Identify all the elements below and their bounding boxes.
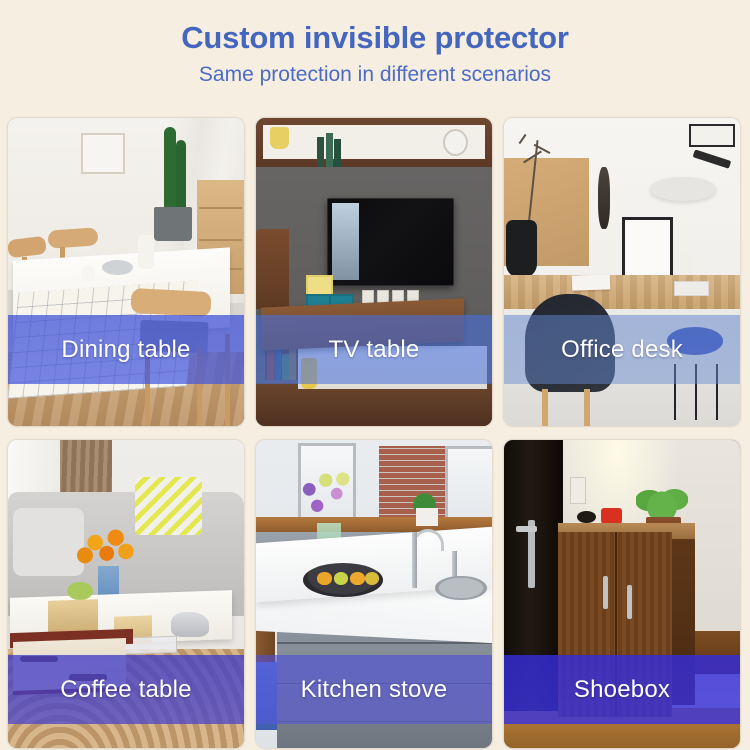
panel-caption-band: Shoebox <box>504 655 740 724</box>
scenario-panel-kitchen-stove[interactable]: Kitchen stove <box>256 440 492 748</box>
page-title: Custom invisible protector <box>0 20 750 56</box>
scenario-panel-dining-table[interactable]: Dining table <box>8 118 244 426</box>
panel-caption-text: Office desk <box>561 336 683 364</box>
panel-caption-band: TV table <box>256 315 492 384</box>
panel-caption-text: Dining table <box>61 336 190 364</box>
panel-caption-text: Shoebox <box>574 676 670 704</box>
panel-caption-band: Coffee table <box>8 655 244 724</box>
panel-caption-band: Kitchen stove <box>256 655 492 724</box>
page-subtitle: Same protection in different scenarios <box>0 63 750 87</box>
scenario-panel-shoebox[interactable]: Shoebox <box>504 440 740 748</box>
scenario-panel-tv-table[interactable]: TV table <box>256 118 492 426</box>
product-infographic-page: Custom invisible protector Same protecti… <box>0 0 750 750</box>
scenario-row-bottom: Coffee table <box>8 440 742 748</box>
scenario-panel-coffee-table[interactable]: Coffee table <box>8 440 244 748</box>
panel-caption-text: Kitchen stove <box>301 676 448 704</box>
scenario-grid: Dining table <box>8 118 742 748</box>
header: Custom invisible protector Same protecti… <box>0 0 750 87</box>
panel-caption-text: TV table <box>329 336 420 364</box>
scenario-row-top: Dining table <box>8 118 742 426</box>
panel-caption-band: Office desk <box>504 315 740 384</box>
panel-caption-band: Dining table <box>8 315 244 384</box>
panel-caption-text: Coffee table <box>60 676 191 704</box>
scenario-panel-office-desk[interactable]: Office desk <box>504 118 740 426</box>
